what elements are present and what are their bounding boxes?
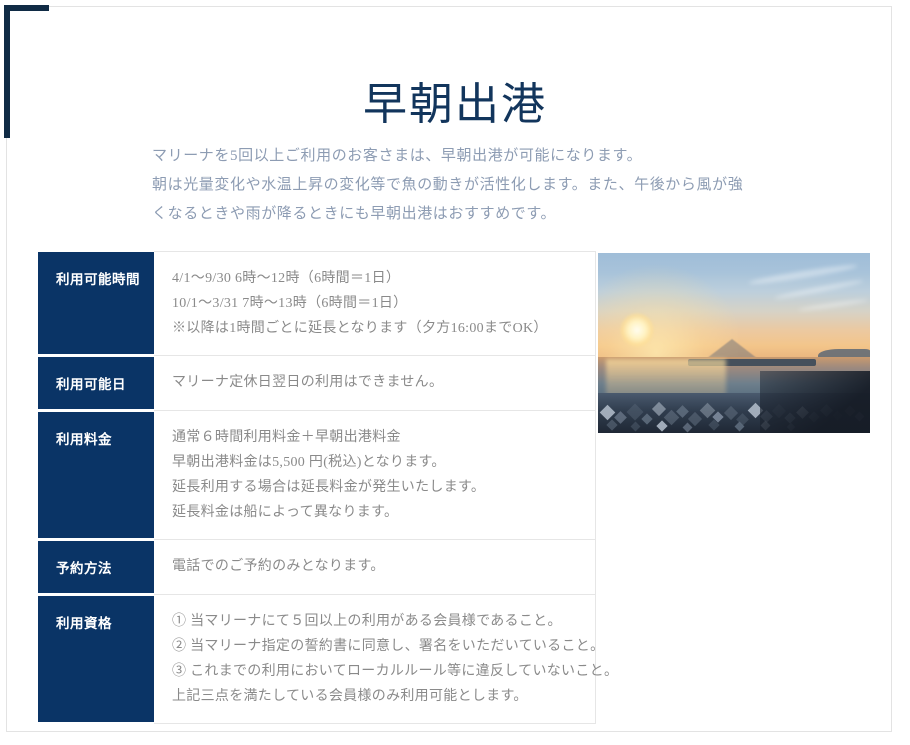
row-header-available-days: 利用可能日	[38, 356, 154, 411]
info-table: 利用可能時間 4/1〜9/30 6時〜12時（6時間＝1日） 10/1〜3/31…	[38, 251, 596, 725]
photo-tetrapod-block	[631, 422, 641, 432]
value-line: マリーナ定休日翌日の利用はできません。	[172, 370, 581, 395]
photo-mount-fuji-silhouette	[706, 339, 758, 359]
table-row: 利用料金 通常６時間利用料金＋早朝出港料金 早朝出港料金は5,500 円(税込)…	[38, 411, 596, 540]
photo-tetrapod-block	[688, 412, 702, 426]
table-row: 利用資格 ① 当マリーナにて５回以上の利用がある会員様であること。 ② 当マリー…	[38, 595, 596, 724]
row-value-reservation-method: 電話でのご予約のみとなります。	[154, 540, 596, 595]
row-value-fees: 通常６時間利用料金＋早朝出港料金 早朝出港料金は5,500 円(税込)となります…	[154, 411, 596, 540]
value-line: 通常６時間利用料金＋早朝出港料金	[172, 425, 581, 450]
value-line: 電話でのご予約のみとなります。	[172, 554, 581, 579]
photo-tetrapod-block	[683, 423, 693, 433]
row-header-reservation-method: 予約方法	[38, 540, 154, 595]
row-value-eligibility: ① 当マリーナにて５回以上の利用がある会員様であること。 ② 当マリーナ指定の誓…	[154, 595, 596, 724]
photo-tetrapod-block	[614, 411, 627, 424]
photo-tetrapod-block	[606, 419, 617, 430]
value-line: ① 当マリーナにて５回以上の利用がある会員様であること。	[172, 609, 581, 634]
sunrise-photo	[598, 253, 870, 433]
table-row: 利用可能時間 4/1〜9/30 6時〜12時（6時間＝1日） 10/1〜3/31…	[38, 252, 596, 356]
corner-accent-horizontal-bar	[4, 5, 49, 11]
photo-tetrapod-block	[652, 402, 666, 416]
photo-sun	[620, 313, 654, 347]
value-line: 延長料金は船によって異なります。	[172, 500, 581, 525]
photo-tetrapod-block	[656, 420, 667, 431]
value-line: 上記三点を満たしている会員様のみ利用可能とします。	[172, 684, 581, 709]
content-row: 利用可能時間 4/1〜9/30 6時〜12時（6時間＝1日） 10/1〜3/31…	[38, 251, 872, 687]
photo-tetrapod-block	[600, 405, 616, 421]
value-line: ② 当マリーナ指定の誓約書に同意し、署名をいただいていること。	[172, 634, 581, 659]
row-value-usage-hours: 4/1〜9/30 6時〜12時（6時間＝1日） 10/1〜3/31 7時〜13時…	[154, 252, 596, 356]
value-line: 4/1〜9/30 6時〜12時（6時間＝1日）	[172, 266, 581, 291]
intro-line-1: マリーナを5回以上ご利用のお客さまは、早朝出港が可能になります。	[152, 142, 792, 171]
table-row: 利用可能日 マリーナ定休日翌日の利用はできません。	[38, 356, 596, 411]
intro-line-2: 朝は光量変化や水温上昇の変化等で魚の動きが活性化します。また、午後から風が強	[152, 171, 792, 200]
row-value-available-days: マリーナ定休日翌日の利用はできません。	[154, 356, 596, 411]
value-line: ③ これまでの利用においてローカルルール等に違反していないこと。	[172, 659, 581, 684]
page-title: 早朝出港	[0, 81, 910, 129]
row-header-usage-hours: 利用可能時間	[38, 252, 154, 356]
table-row: 予約方法 電話でのご予約のみとなります。	[38, 540, 596, 595]
photo-tetrapods-shadow	[760, 371, 870, 433]
intro-line-3: くなるときや雨が降るときにも早朝出港はおすすめです。	[152, 200, 792, 229]
intro-paragraph: マリーナを5回以上ご利用のお客さまは、早朝出港が可能になります。 朝は光量変化や…	[152, 142, 792, 229]
row-header-eligibility: 利用資格	[38, 595, 154, 724]
value-line: 早朝出港料金は5,500 円(税込)となります。	[172, 450, 581, 475]
row-header-fees: 利用料金	[38, 411, 154, 540]
value-line: ※以降は1時間ごとに延長となります（夕方16:00までOK）	[172, 316, 581, 341]
photo-tetrapod-block	[641, 413, 652, 424]
value-line: 延長利用する場合は延長料金が発生いたします。	[172, 475, 581, 500]
value-line: 10/1〜3/31 7時〜13時（6時間＝1日）	[172, 291, 581, 316]
